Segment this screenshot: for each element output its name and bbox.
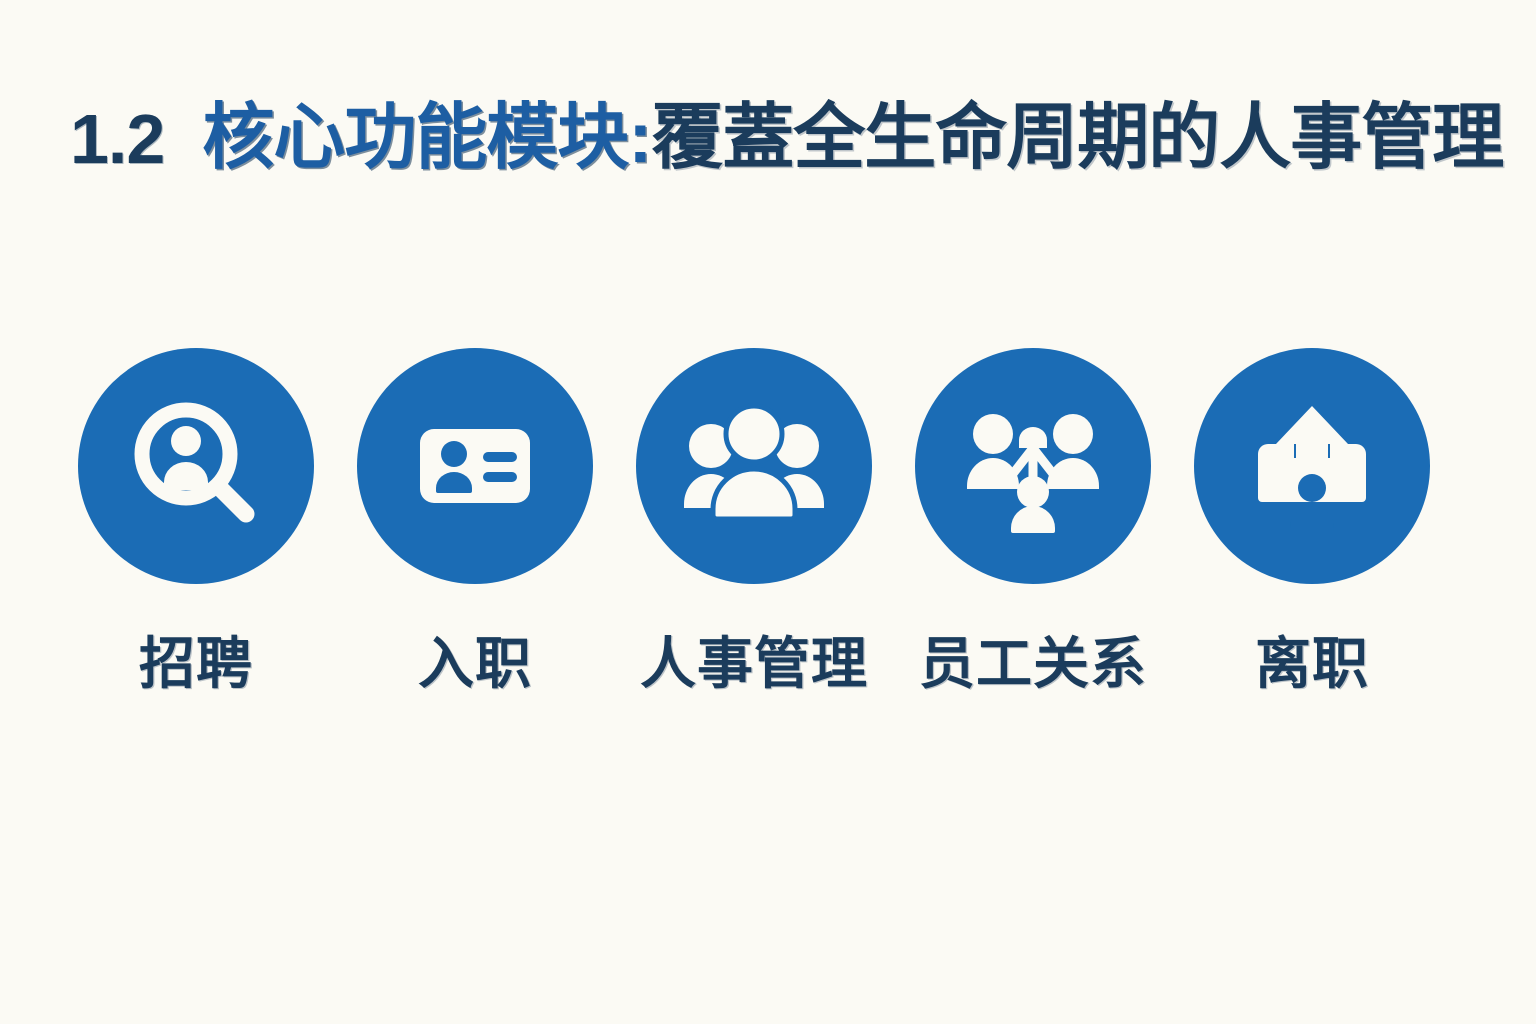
person-search-icon [126, 396, 266, 536]
module-label-hr-management: 人事管理 [640, 636, 868, 692]
icon-circle-employee-relations[interactable] [915, 348, 1151, 584]
slide-canvas: 1.2 核心功能模块: 覆蓋全生命周期的人事管理 招聘 [0, 0, 1536, 1024]
module-item-hr-management[interactable]: 人事管理 [636, 348, 872, 692]
title-main-text: 核心功能模块: [202, 102, 651, 174]
icon-circle-hr-management[interactable] [636, 348, 872, 584]
title-sub-text: 覆蓋全生命周期的人事管理 [651, 102, 1503, 174]
icon-circle-offboarding[interactable] [1194, 348, 1430, 584]
icon-circle-onboarding[interactable] [357, 348, 593, 584]
title-section-number: 1.2 [70, 104, 164, 174]
people-network-icon [959, 392, 1107, 540]
id-badge-icon [405, 396, 545, 536]
module-item-offboarding[interactable]: 离职 [1194, 348, 1430, 692]
module-label-employee-relations: 员工关系 [919, 636, 1147, 692]
module-label-onboarding: 入职 [418, 636, 532, 692]
module-item-recruitment[interactable]: 招聘 [78, 348, 314, 692]
page-title: 1.2 核心功能模块: 覆蓋全生命周期的人事管理 [70, 88, 1530, 174]
module-item-employee-relations[interactable]: 员工关系 [915, 348, 1151, 692]
person-exit-door-icon [1242, 396, 1382, 536]
module-label-recruitment: 招聘 [139, 636, 253, 692]
module-row: 招聘 入职 [78, 348, 1430, 692]
people-group-icon [680, 392, 828, 540]
module-label-offboarding: 离职 [1255, 636, 1369, 692]
module-item-onboarding[interactable]: 入职 [357, 348, 593, 692]
icon-circle-recruitment[interactable] [78, 348, 314, 584]
